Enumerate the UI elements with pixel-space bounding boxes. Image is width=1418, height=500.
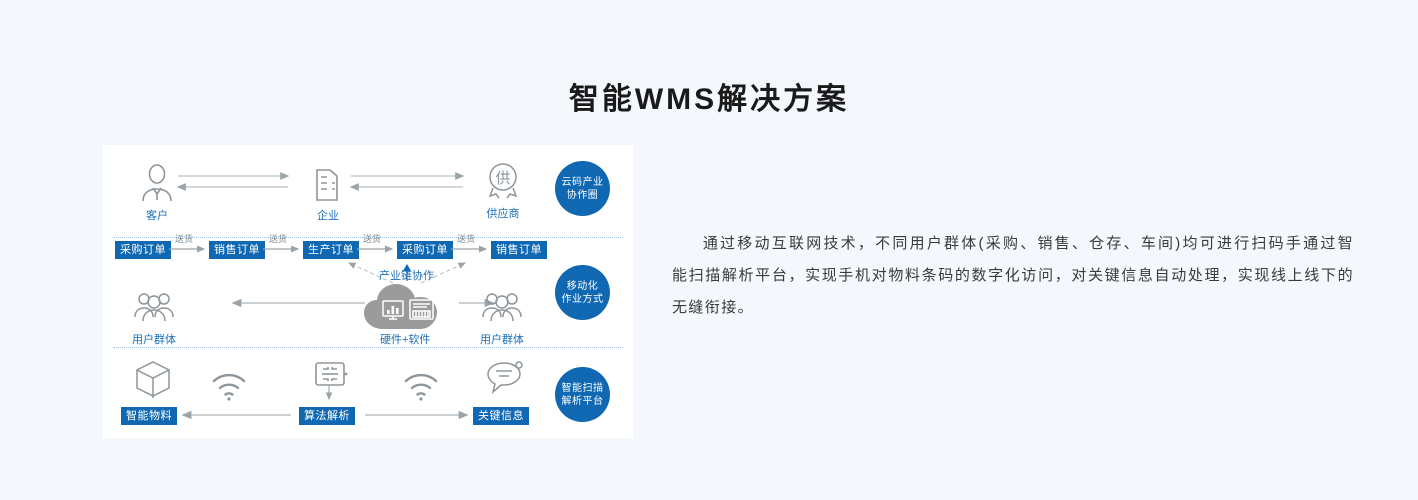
user-group-icon xyxy=(132,285,176,329)
user-group-icon xyxy=(480,285,524,329)
badge-mobile-operation-circle: 移动化 作业方式 xyxy=(555,265,610,320)
badge-cloud-industry-circle: 云码产业 协作圈 xyxy=(555,161,610,216)
node-label: 用户群体 xyxy=(119,331,189,347)
wms-architecture-diagram: 客户 企业 供 供应商 xyxy=(103,145,633,438)
badge-line-1: 移动化 xyxy=(567,281,599,292)
badge-line-2: 解析平台 xyxy=(562,396,604,407)
node-label: 用户群体 xyxy=(467,331,537,347)
row3-arrows xyxy=(103,347,633,438)
page-title: 智能WMS解决方案 xyxy=(0,74,1418,118)
badge-line-1: 云码产业 xyxy=(562,177,604,188)
description-line-1: 通过移动互联网技术，不同用户群体(采购、销售、仓存、车间)均可进行扫码 xyxy=(702,235,1286,252)
label-hardware-software: 硬件+软件 xyxy=(380,331,430,347)
badge-line-1: 智能扫描 xyxy=(562,383,604,394)
node-user-group-left: 用户群体 xyxy=(119,285,189,347)
cloud-hardware-software-icon xyxy=(361,275,461,337)
row1-arrows xyxy=(103,145,633,237)
node-user-group-right: 用户群体 xyxy=(467,285,537,347)
description-paragraph: 通过移动互联网技术，不同用户群体(采购、销售、仓存、车间)均可进行扫码手通过智 … xyxy=(672,228,1354,324)
badge-line-2: 作业方式 xyxy=(562,294,604,305)
badge-smart-scan-platform-circle: 智能扫描 解析平台 xyxy=(555,367,610,422)
badge-line-2: 协作圈 xyxy=(567,190,599,201)
